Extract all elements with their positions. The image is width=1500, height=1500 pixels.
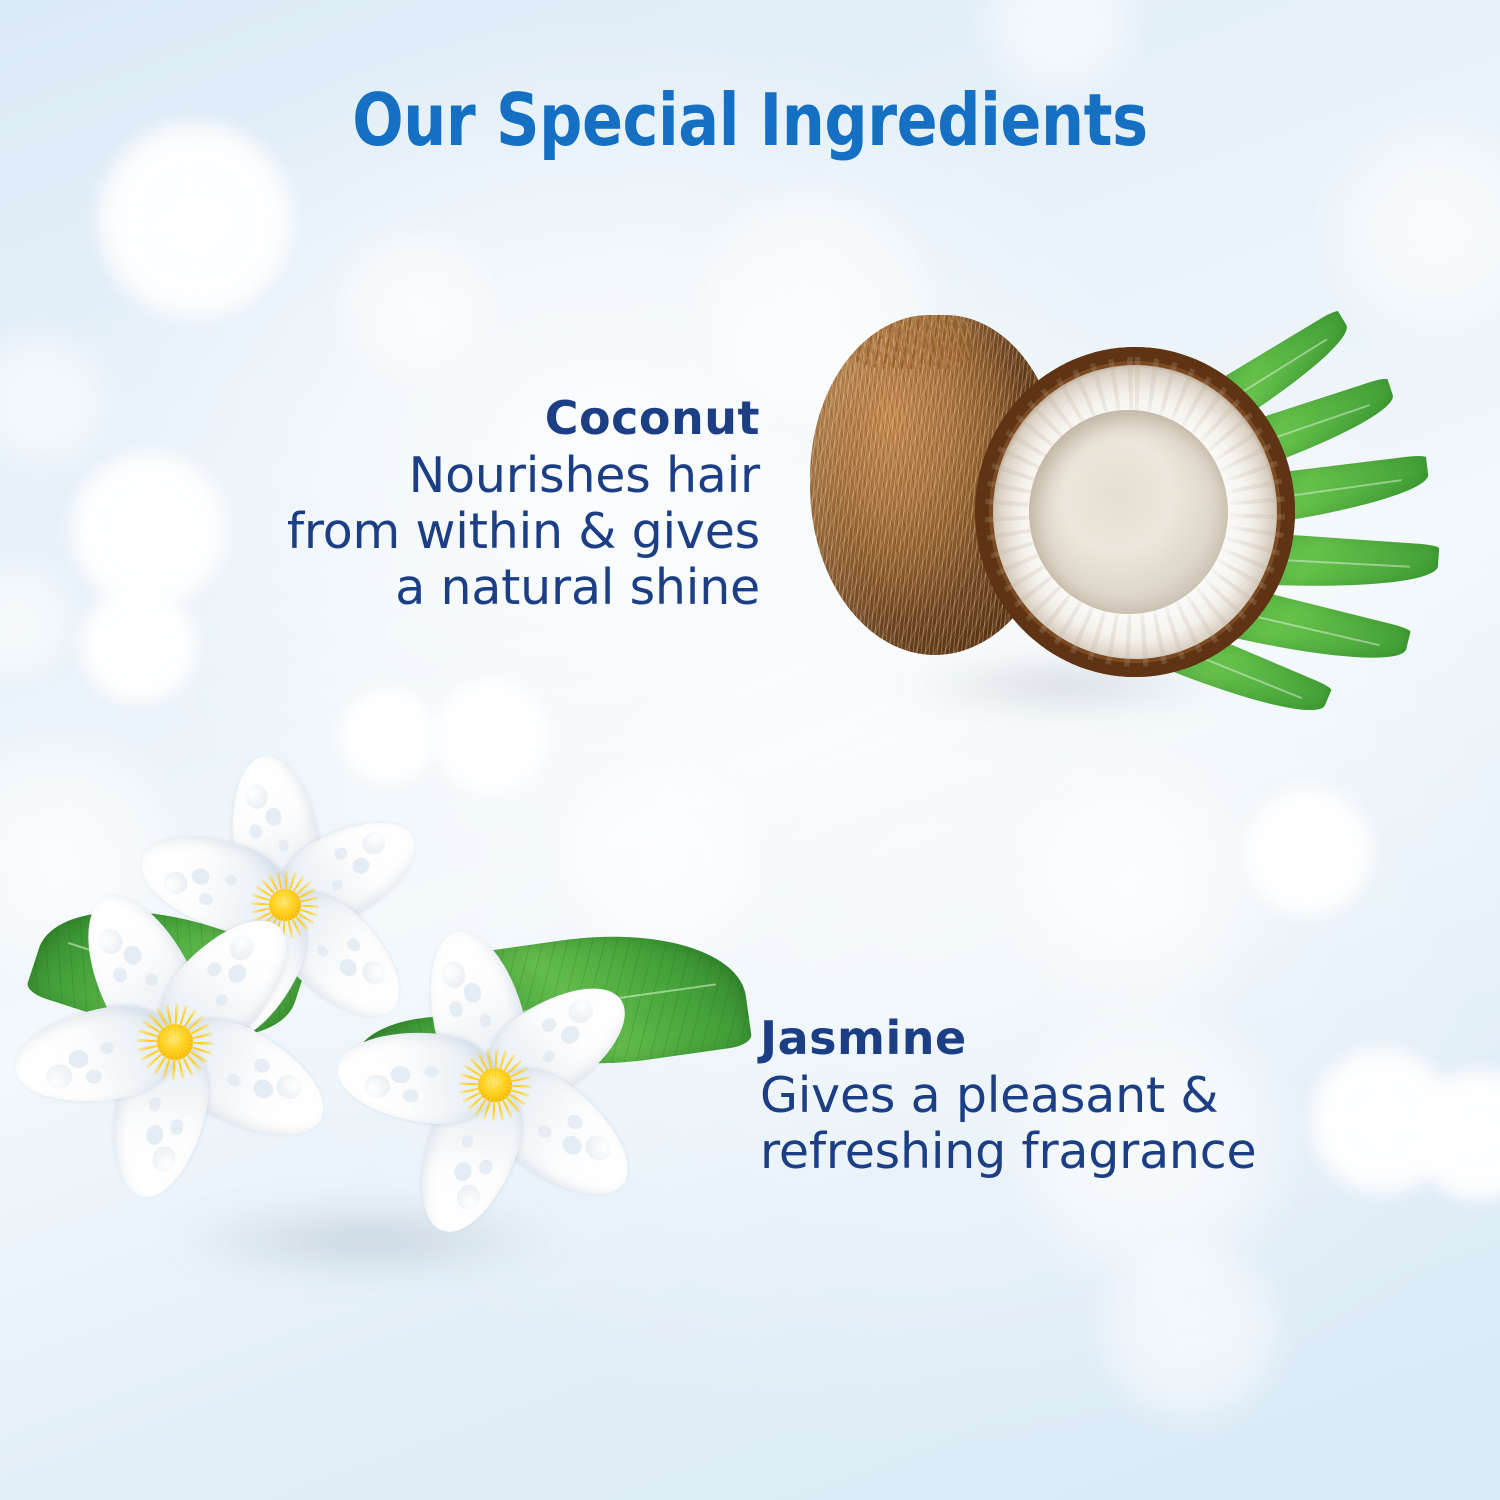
ingredient-name-coconut: Coconut	[60, 392, 760, 444]
ingredient-desc-jasmine-line-1: Gives a pleasant &	[760, 1068, 1460, 1124]
coconut-shadow	[830, 651, 1300, 721]
stamen	[478, 1068, 512, 1102]
stamen	[269, 889, 301, 921]
bokeh-circle	[1242, 786, 1374, 918]
ingredient-desc-jasmine-line-2: refreshing fragrance	[760, 1124, 1460, 1180]
bokeh-circle	[1010, 760, 1260, 1010]
ingredient-name-jasmine: Jasmine	[760, 1012, 1460, 1064]
page-title: Our Special Ingredients	[120, 78, 1380, 162]
jasmine-flower	[170, 1037, 180, 1047]
ingredient-desc-coconut-line-2: from within & gives	[60, 504, 760, 560]
bokeh-circle	[340, 230, 490, 380]
coconut-image	[800, 275, 1480, 735]
jasmine-flower	[490, 1080, 500, 1090]
jasmine-shadow	[85, 1195, 645, 1285]
bokeh-circle	[432, 678, 550, 796]
coconut-cavity	[1029, 410, 1227, 615]
bokeh-circle	[338, 686, 438, 786]
stamen	[157, 1024, 193, 1060]
bokeh-circle	[1100, 1240, 1280, 1420]
jasmine-image	[25, 865, 765, 1305]
ingredients-infographic: Our Special Ingredients Coconut Nourishe…	[0, 0, 1500, 1500]
ingredient-desc-coconut-line-3: a natural shine	[60, 560, 760, 616]
coconut-text-block: Coconut Nourishes hair from within & giv…	[60, 392, 760, 616]
jasmine-text-block: Jasmine Gives a pleasant & refreshing fr…	[760, 1012, 1460, 1180]
husk-tuft	[840, 315, 970, 369]
ingredient-desc-coconut-line-1: Nourishes hair	[60, 448, 760, 504]
coconut-half	[975, 347, 1295, 677]
jasmine-flower	[280, 900, 290, 910]
